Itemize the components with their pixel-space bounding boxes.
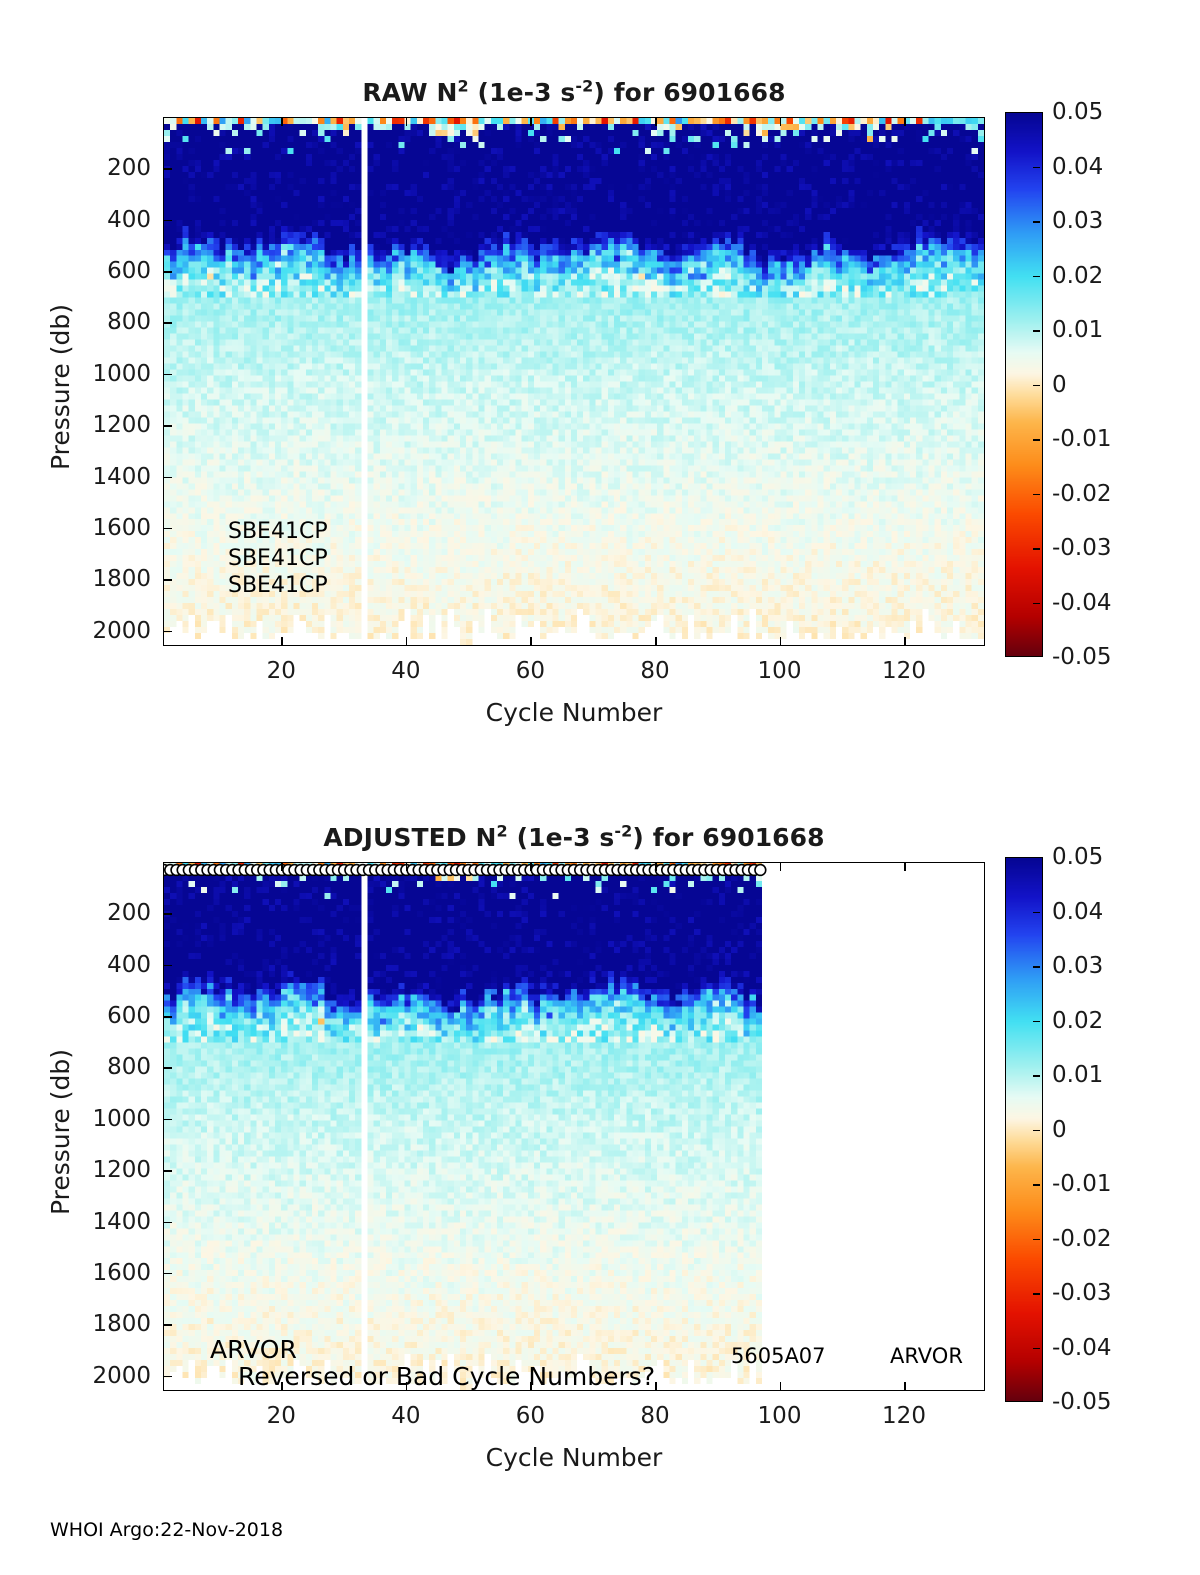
colorbar-tick-mark [1033, 221, 1040, 223]
y-tick-mark [163, 1376, 172, 1378]
adjusted-x-axis-label: Cycle Number [163, 1443, 985, 1472]
colorbar-tick-mark [1033, 494, 1040, 496]
x-tick-mark [655, 1382, 657, 1391]
colorbar-tick-mark [1033, 548, 1040, 550]
y-tick-mark [163, 965, 172, 967]
adjusted-heatmap-surface [164, 863, 984, 1390]
x-tick-mark [530, 637, 532, 646]
colorbar-tick-mark [1033, 167, 1040, 169]
y-tick-mark [163, 1119, 172, 1121]
adjusted-title-prefix: ADJUSTED N [323, 823, 496, 852]
y-tick-mark [163, 1222, 172, 1224]
x-tick-mark [281, 637, 283, 646]
colorbar-tick-label: 0.04 [1052, 154, 1103, 180]
raw-title-prefix: RAW N [362, 78, 457, 107]
x-tick-label: 100 [758, 658, 802, 684]
x-tick-mark-top [406, 117, 408, 126]
colorbar-tick-label: 0 [1052, 372, 1067, 398]
y-tick-mark [163, 528, 172, 530]
colorbar-tick-label: -0.03 [1052, 535, 1112, 561]
x-tick-mark [655, 637, 657, 646]
sensor-label-3: SBE41CP [228, 573, 328, 598]
y-tick-mark [163, 425, 172, 427]
y-tick-mark [163, 477, 172, 479]
y-tick-label: 2000 [41, 618, 151, 644]
y-tick-label: 200 [41, 155, 151, 181]
y-tick-label: 1000 [41, 361, 151, 387]
colorbar-tick-label: -0.04 [1052, 1335, 1112, 1361]
y-tick-label: 600 [41, 258, 151, 284]
colorbar-tick-mark [1033, 912, 1040, 914]
colorbar-tick-label: -0.04 [1052, 590, 1112, 616]
sensor-serial-label: 5605A07 [731, 1344, 826, 1368]
adjusted-title-suffix: ) for 6901668 [632, 823, 824, 852]
y-tick-label: 400 [41, 207, 151, 233]
x-tick-mark [406, 637, 408, 646]
x-tick-mark-top [530, 862, 532, 871]
colorbar-tick-mark [1033, 1293, 1040, 1295]
colorbar-tick-label: 0.03 [1052, 953, 1103, 979]
colorbar-tick-label: 0.03 [1052, 208, 1103, 234]
x-tick-label: 40 [391, 658, 420, 684]
raw-title-superscript-2: 2 [458, 77, 469, 96]
y-tick-mark [163, 322, 172, 324]
y-tick-label: 1000 [41, 1106, 151, 1132]
x-tick-label: 40 [391, 1403, 420, 1429]
colorbar-tick-label: 0.02 [1052, 1008, 1103, 1034]
y-tick-mark [163, 271, 172, 273]
y-tick-mark [163, 913, 172, 915]
colorbar-tick-mark [1033, 1348, 1040, 1350]
x-tick-label: 60 [516, 658, 545, 684]
y-tick-label: 1200 [41, 412, 151, 438]
x-tick-mark [780, 637, 782, 646]
y-tick-label: 600 [41, 1003, 151, 1029]
y-tick-mark [163, 1324, 172, 1326]
y-tick-label: 1800 [41, 566, 151, 592]
x-tick-label: 60 [516, 1403, 545, 1429]
y-tick-label: 1400 [41, 1209, 151, 1235]
y-tick-mark [163, 631, 172, 633]
y-tick-label: 2000 [41, 1363, 151, 1389]
colorbar-tick-label: 0 [1052, 1117, 1067, 1143]
x-tick-label: 80 [640, 1403, 669, 1429]
x-tick-label: 20 [267, 658, 296, 684]
colorbar-tick-label: -0.05 [1052, 644, 1112, 670]
x-tick-mark-top [281, 117, 283, 126]
x-tick-label: 80 [640, 658, 669, 684]
y-tick-label: 1200 [41, 1157, 151, 1183]
sensor-label-2: SBE41CP [228, 546, 328, 571]
adjusted-plot-title: ADJUSTED N2 (1e-3 s-2) for 6901668 [163, 823, 985, 852]
footer-credit: WHOI Argo:22-Nov-2018 [50, 1519, 283, 1541]
colorbar-tick-mark [1033, 966, 1040, 968]
y-tick-label: 1600 [41, 1260, 151, 1286]
raw-title-mid: (1e-3 s [469, 78, 576, 107]
colorbar-tick-label: -0.02 [1052, 481, 1112, 507]
colorbar-tick-mark [1033, 1239, 1040, 1241]
colorbar-tick-mark [1033, 330, 1040, 332]
adjusted-heatmap-axes[interactable] [163, 862, 985, 1391]
x-tick-mark-top [655, 862, 657, 871]
y-tick-mark [163, 1016, 172, 1018]
colorbar-tick-label: -0.01 [1052, 426, 1112, 452]
x-tick-label: 20 [267, 1403, 296, 1429]
y-tick-label: 1800 [41, 1311, 151, 1337]
x-tick-mark-top [406, 862, 408, 871]
x-tick-mark-top [281, 862, 283, 871]
y-tick-label: 1600 [41, 515, 151, 541]
x-tick-mark-top [780, 862, 782, 871]
y-tick-label: 800 [41, 1054, 151, 1080]
colorbar-tick-label: -0.02 [1052, 1226, 1112, 1252]
y-tick-mark [163, 579, 172, 581]
colorbar-tick-mark [1033, 439, 1040, 441]
y-tick-mark [163, 220, 172, 222]
adjusted-title-mid: (1e-3 s [508, 823, 615, 852]
y-tick-mark [163, 168, 172, 170]
colorbar-tick-label: -0.03 [1052, 1280, 1112, 1306]
sensor-label-1: SBE41CP [228, 519, 328, 544]
y-tick-label: 800 [41, 309, 151, 335]
colorbar-tick-label: 0.05 [1052, 99, 1103, 125]
x-tick-mark [780, 1382, 782, 1391]
colorbar-tick-mark [1033, 276, 1040, 278]
y-tick-label: 400 [41, 952, 151, 978]
raw-plot-title: RAW N2 (1e-3 s-2) for 6901668 [163, 78, 985, 107]
x-tick-label: 120 [882, 658, 926, 684]
raw-title-suffix: ) for 6901668 [593, 78, 785, 107]
colorbar-tick-label: 0.01 [1052, 317, 1103, 343]
y-tick-label: 1400 [41, 464, 151, 490]
colorbar-tick-label: 0.01 [1052, 1062, 1103, 1088]
y-tick-mark [163, 374, 172, 376]
colorbar-tick-mark [1033, 1021, 1040, 1023]
warning-label: Reversed or Bad Cycle Numbers? [238, 1362, 655, 1391]
colorbar-tick-mark [1033, 385, 1040, 387]
y-tick-mark [163, 1273, 172, 1275]
x-tick-mark-top [904, 862, 906, 871]
colorbar-tick-mark [1033, 1130, 1040, 1132]
x-tick-label: 120 [882, 1403, 926, 1429]
adjusted-title-superscript-2: 2 [497, 822, 508, 841]
x-tick-mark-top [780, 117, 782, 126]
colorbar-tick-mark [1033, 603, 1040, 605]
y-tick-mark [163, 1170, 172, 1172]
raw-title-superscript-neg2: -2 [575, 77, 593, 96]
x-tick-mark [904, 637, 906, 646]
x-tick-mark [904, 1382, 906, 1391]
colorbar-tick-label: 0.05 [1052, 844, 1103, 870]
colorbar-tick-label: -0.01 [1052, 1171, 1112, 1197]
colorbar-tick-label: 0.02 [1052, 263, 1103, 289]
platform-label-left: ARVOR [210, 1335, 297, 1364]
colorbar-tick-label: 0.04 [1052, 899, 1103, 925]
platform-label-right: ARVOR [890, 1344, 963, 1368]
x-tick-label: 100 [758, 1403, 802, 1429]
y-tick-mark [163, 1067, 172, 1069]
x-tick-mark-top [904, 117, 906, 126]
colorbar-tick-label: -0.05 [1052, 1389, 1112, 1415]
adjusted-title-superscript-neg2: -2 [614, 822, 632, 841]
x-tick-mark-top [655, 117, 657, 126]
y-tick-label: 200 [41, 900, 151, 926]
colorbar-tick-mark [1033, 1075, 1040, 1077]
x-tick-mark-top [530, 117, 532, 126]
colorbar-tick-mark [1033, 1184, 1040, 1186]
raw-x-axis-label: Cycle Number [163, 698, 985, 727]
